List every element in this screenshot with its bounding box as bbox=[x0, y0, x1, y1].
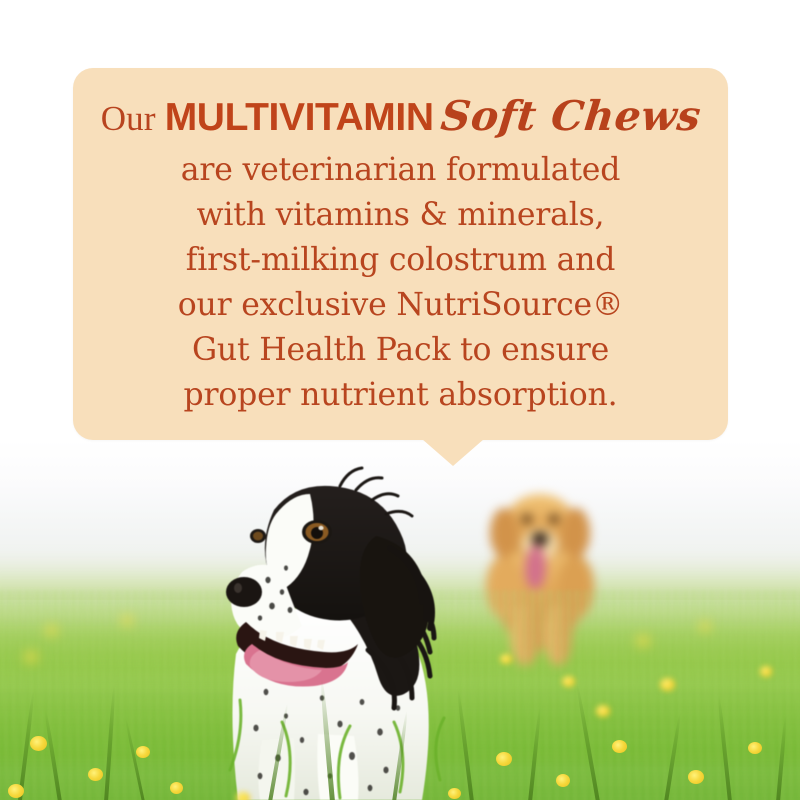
flower bbox=[496, 752, 512, 766]
flower bbox=[46, 626, 57, 635]
flower bbox=[8, 784, 24, 798]
flower bbox=[596, 705, 610, 717]
flower bbox=[688, 770, 704, 784]
foreground-springer-spaniel bbox=[190, 440, 490, 800]
flower bbox=[448, 788, 461, 799]
flower bbox=[637, 636, 649, 646]
flower bbox=[760, 666, 772, 677]
callout-tail bbox=[422, 439, 484, 466]
body-line-6: proper nutrient absorption. bbox=[178, 373, 624, 418]
flower bbox=[136, 746, 150, 758]
flower bbox=[660, 678, 675, 691]
callout-body: are veterinarian formulated with vitamin… bbox=[178, 148, 624, 418]
flower bbox=[562, 676, 575, 687]
flower bbox=[500, 654, 512, 664]
flower bbox=[122, 616, 132, 625]
headline-emphasis: MULTIVITAMIN bbox=[165, 98, 434, 137]
flower bbox=[556, 774, 570, 787]
flower bbox=[236, 792, 250, 800]
headline-script: Soft Chews bbox=[438, 96, 702, 137]
flower bbox=[170, 782, 183, 794]
flower bbox=[25, 652, 37, 662]
flower bbox=[700, 622, 710, 631]
meadow-dogs-photo bbox=[0, 440, 800, 800]
body-line-4: our exclusive NutriSource® bbox=[178, 283, 624, 328]
body-line-1: are veterinarian formulated bbox=[178, 148, 624, 193]
headline: Our MULTIVITAMIN Soft Chews bbox=[101, 96, 701, 137]
flower bbox=[30, 736, 47, 751]
body-line-2: with vitamins & minerals, bbox=[178, 193, 624, 238]
flower bbox=[748, 742, 762, 754]
flower bbox=[612, 740, 627, 753]
callout-content: Our MULTIVITAMIN Soft Chews are veterina… bbox=[73, 68, 728, 440]
body-line-3: first-milking colostrum and bbox=[178, 238, 624, 283]
body-line-5: Gut Health Pack to ensure bbox=[178, 328, 624, 373]
flower bbox=[88, 768, 103, 781]
promo-graphic: Our MULTIVITAMIN Soft Chews are veterina… bbox=[0, 0, 800, 800]
headline-lead: Our bbox=[101, 101, 156, 136]
